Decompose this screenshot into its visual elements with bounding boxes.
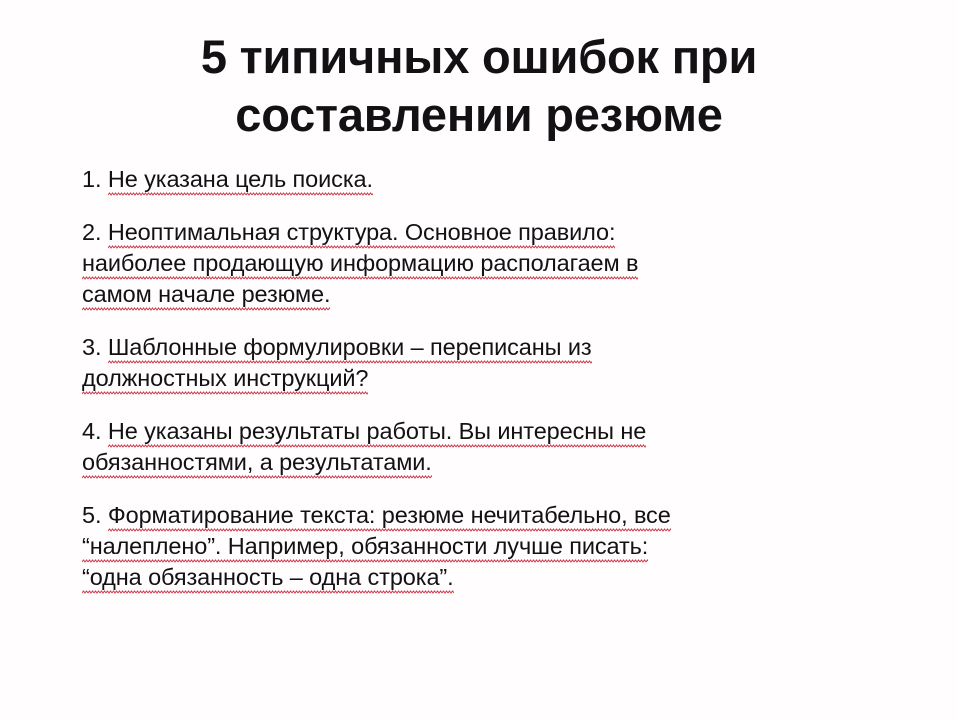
list-item: 4. Не указаны результаты работы. Вы инте… xyxy=(82,416,882,478)
list-item-line: наиболее продающую информацию располагае… xyxy=(82,248,882,279)
list-item-line: самом начале резюме. xyxy=(82,279,882,310)
list-item-line: 4. Не указаны результаты работы. Вы инте… xyxy=(82,416,882,447)
slide-canvas: 5 типичных ошибок при составлении резюме… xyxy=(0,0,958,720)
list-item-marker: 2. xyxy=(82,219,101,245)
list-item-text: Не указаны результаты работы. Вы интерес… xyxy=(108,418,646,448)
list-item-line: 5. Форматирование текста: резюме нечитаб… xyxy=(82,500,882,531)
list-item-marker: 1. xyxy=(82,166,101,192)
list-item-line: “одна обязанность – одна строка”. xyxy=(82,562,882,593)
list-item-line: должностных инструкций? xyxy=(82,363,882,394)
list-item-text: Форматирование текста: резюме нечитабель… xyxy=(108,502,671,532)
list-item-text: “налеплено”. Например, обязанности лучше… xyxy=(82,533,648,563)
list-item: 1. Не указана цель поиска. xyxy=(82,164,882,195)
list-item-text: обязанностями, а результатами. xyxy=(82,449,432,479)
list-item: 2. Неоптимальная структура. Основное пра… xyxy=(82,217,882,310)
list-item: 5. Форматирование текста: резюме нечитаб… xyxy=(82,500,882,593)
list-item-text: Не указана цель поиска. xyxy=(108,166,373,196)
list-item-text: наиболее продающую информацию располагае… xyxy=(82,250,638,280)
list-item-line: обязанностями, а результатами. xyxy=(82,447,882,478)
list-item-text: Шаблонные формулировки – переписаны из xyxy=(108,334,592,364)
list-item-text: самом начале резюме. xyxy=(82,281,330,311)
title-line-1: 5 типичных ошибок при xyxy=(0,28,958,86)
list-item-line: “налеплено”. Например, обязанности лучше… xyxy=(82,531,882,562)
list-item-text: Неоптимальная структура. Основное правил… xyxy=(108,219,616,249)
title-line-2: составлении резюме xyxy=(0,86,958,144)
list-item-marker: 5. xyxy=(82,502,101,528)
list-item-line: 1. Не указана цель поиска. xyxy=(82,164,882,195)
mistakes-list: 1. Не указана цель поиска. 2. Неоптималь… xyxy=(82,164,882,593)
page-title: 5 типичных ошибок при составлении резюме xyxy=(0,28,958,144)
list-item-marker: 4. xyxy=(82,418,101,444)
list-item-marker: 3. xyxy=(82,334,101,360)
title-line-2-text: составлении резюме xyxy=(235,88,722,141)
list-item-line: 3. Шаблонные формулировки – переписаны и… xyxy=(82,332,882,363)
list-item: 3. Шаблонные формулировки – переписаны и… xyxy=(82,332,882,394)
list-item-text: должностных инструкций? xyxy=(82,365,368,395)
list-item-text: “одна обязанность – одна строка”. xyxy=(82,564,454,594)
title-line-1-text: 5 типичных ошибок при xyxy=(201,30,757,83)
list-item-line: 2. Неоптимальная структура. Основное пра… xyxy=(82,217,882,248)
